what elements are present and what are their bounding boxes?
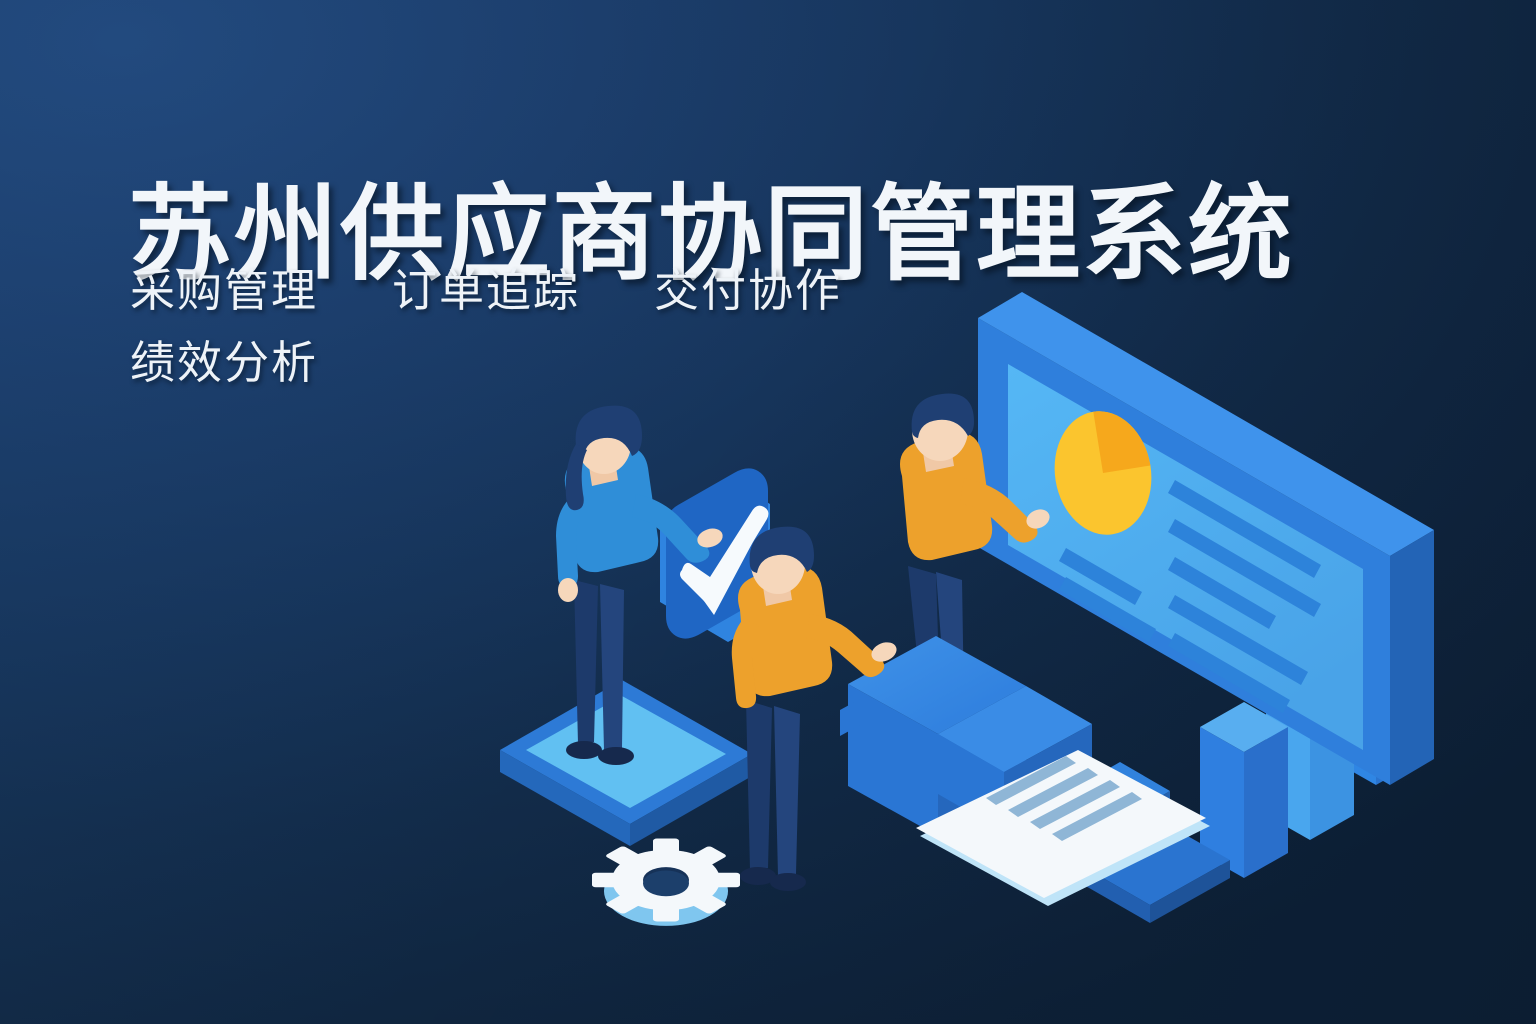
feature-item-purchasing: 采购管理 [130,262,318,320]
hero-banner: 苏州供应商协同管理系统 采购管理 订单追踪 交付协作 绩效分析 [0,0,1536,1024]
feature-row-2: 绩效分析 [130,334,1030,392]
feature-item-delivery-collaboration: 交付协作 [654,262,842,320]
feature-row-1: 采购管理 订单追踪 交付协作 [130,262,1030,320]
feature-item-performance-analysis: 绩效分析 [130,334,318,392]
gear-icon [592,839,740,926]
feature-list: 采购管理 订单追踪 交付协作 绩效分析 [130,262,1030,405]
feature-item-order-tracking: 订单追踪 [392,262,580,320]
